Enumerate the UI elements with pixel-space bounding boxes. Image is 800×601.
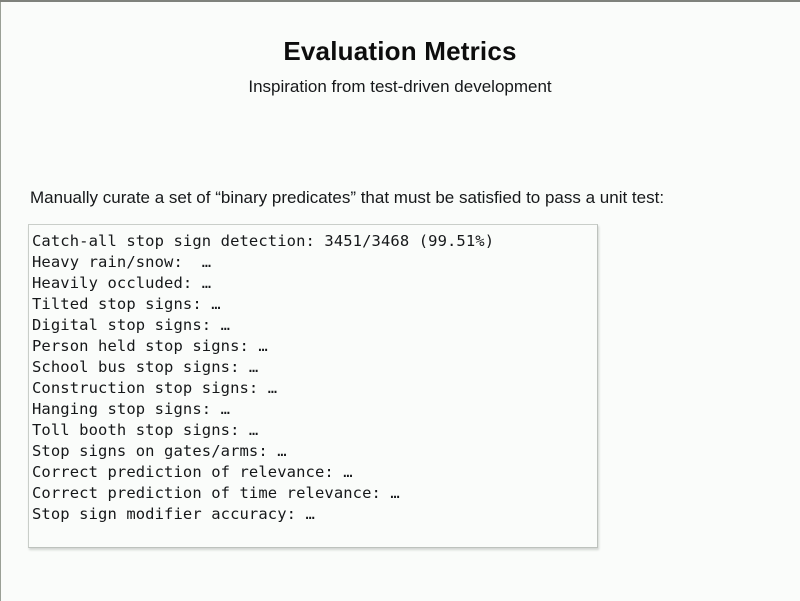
code-line: Tilted stop signs: …: [32, 294, 597, 315]
code-line: Stop signs on gates/arms: …: [32, 441, 597, 462]
code-line: Person held stop signs: …: [32, 336, 597, 357]
code-line: Toll booth stop signs: …: [32, 420, 597, 441]
code-line: Digital stop signs: …: [32, 315, 597, 336]
code-block: Catch-all stop sign detection: 3451/3468…: [28, 224, 598, 548]
code-line: Heavily occluded: …: [32, 273, 597, 294]
code-line: Heavy rain/snow: …: [32, 252, 597, 273]
code-line: Correct prediction of relevance: …: [32, 462, 597, 483]
code-line: Stop sign modifier accuracy: …: [32, 504, 597, 525]
code-line: Correct prediction of time relevance: …: [32, 483, 597, 504]
code-line: Catch-all stop sign detection: 3451/3468…: [32, 231, 597, 252]
code-line: Construction stop signs: …: [32, 378, 597, 399]
page-title: Evaluation Metrics: [0, 36, 800, 67]
slide-subtitle: Inspiration from test-driven development: [0, 77, 800, 97]
body-paragraph: Manually curate a set of “binary predica…: [30, 188, 775, 208]
slide-canvas: Evaluation Metrics Inspiration from test…: [0, 0, 800, 601]
code-line: Hanging stop signs: …: [32, 399, 597, 420]
code-line: School bus stop signs: …: [32, 357, 597, 378]
